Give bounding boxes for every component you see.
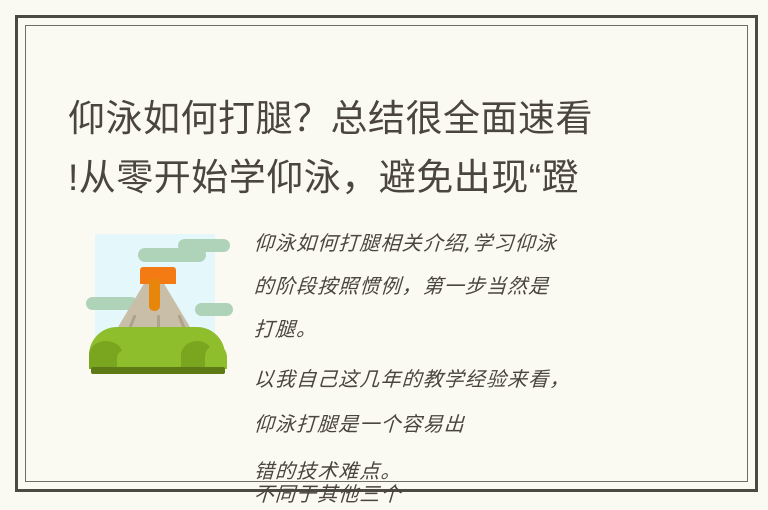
body-paragraph: 错的技术难点。 不同于其他三个 xyxy=(254,460,702,506)
body-paragraph: 以我自己这几年的教学经验来看， 仰泳打腿是一个容易出 xyxy=(254,354,702,400)
ground-bar xyxy=(91,367,225,374)
body-paragraph: 仰泳如何打腿相关介绍,学习仰泳 的阶段按照惯例，第一步当然是 打腿。 xyxy=(254,232,702,361)
body-line: 仰泳打腿是一个容易出 xyxy=(253,413,702,436)
hill-shape xyxy=(117,347,153,369)
article-body: 仰泳如何打腿相关介绍,学习仰泳 的阶段按照惯例，第一步当然是 打腿。 以我自己这… xyxy=(254,232,702,494)
body-line: 的阶段按照惯例，第一步当然是 xyxy=(253,275,702,298)
body-line: 错的技术难点。 xyxy=(253,460,702,483)
body-line: 打腿。 xyxy=(253,318,702,341)
cloud-icon xyxy=(138,248,206,262)
hill-shape xyxy=(149,345,185,369)
page-title: 仰泳如何打腿？总结很全面速看 !从零开始学仰泳，避免出现“蹬 xyxy=(68,89,718,207)
body-line: 不同于其他三个 xyxy=(253,483,702,506)
volcano-icon xyxy=(83,229,233,381)
lava-flow xyxy=(149,279,160,311)
body-line: 以我自己这几年的教学经验来看， xyxy=(253,368,702,391)
body-line: 仰泳如何打腿相关介绍,学习仰泳 xyxy=(253,232,702,255)
article-page-frame: 仰泳如何打腿？总结很全面速看 !从零开始学仰泳，避免出现“蹬 xyxy=(15,15,758,492)
page-title-line-2: !从零开始学仰泳，避免出现“蹬 xyxy=(68,148,718,207)
hill-shape xyxy=(205,345,227,369)
page-title-line-1: 仰泳如何打腿？总结很全面速看 xyxy=(68,89,718,148)
article-inner-frame: 仰泳如何打腿？总结很全面速看 !从零开始学仰泳，避免出现“蹬 xyxy=(25,25,748,482)
